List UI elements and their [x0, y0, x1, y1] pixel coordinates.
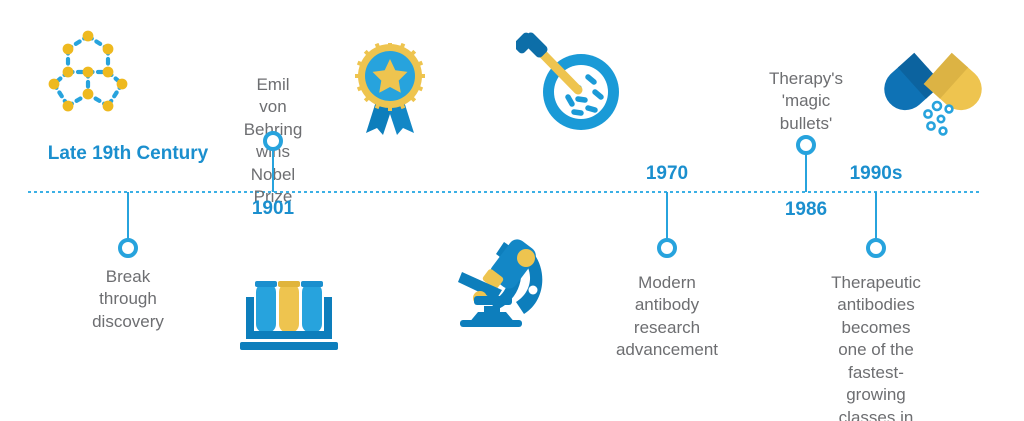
- entry-caption: Modern antibody research advancement: [616, 272, 718, 362]
- year-label: 1970: [646, 163, 688, 185]
- year-label: 1986: [785, 199, 827, 221]
- microscope-icon: [454, 228, 558, 333]
- timeline-axis: [28, 191, 980, 193]
- marker-node[interactable]: [796, 135, 816, 155]
- year-label: 1901: [252, 198, 294, 220]
- test-tube-rack-icon: [236, 277, 340, 358]
- marker-stem: [272, 150, 274, 192]
- year-label: 1990s: [850, 163, 903, 185]
- year-label: Late 19th Century: [48, 143, 208, 165]
- entry-caption: Therapeutic antibodies becomes one of th…: [831, 272, 921, 421]
- marker-node[interactable]: [263, 131, 283, 151]
- award-medal-icon: [352, 43, 428, 140]
- petri-dish-pipette-icon: [516, 28, 628, 141]
- entry-caption: Break through discovery: [92, 266, 164, 333]
- entry-caption: Therapy's 'magic bullets': [769, 68, 843, 135]
- marker-node[interactable]: [657, 238, 677, 258]
- capsule-pill-icon: [879, 36, 987, 149]
- molecule-icon: [46, 28, 130, 119]
- marker-stem: [805, 154, 807, 192]
- timeline-infographic: Late 19th Century Break through discover…: [0, 0, 1024, 421]
- marker-node[interactable]: [118, 238, 138, 258]
- marker-node[interactable]: [866, 238, 886, 258]
